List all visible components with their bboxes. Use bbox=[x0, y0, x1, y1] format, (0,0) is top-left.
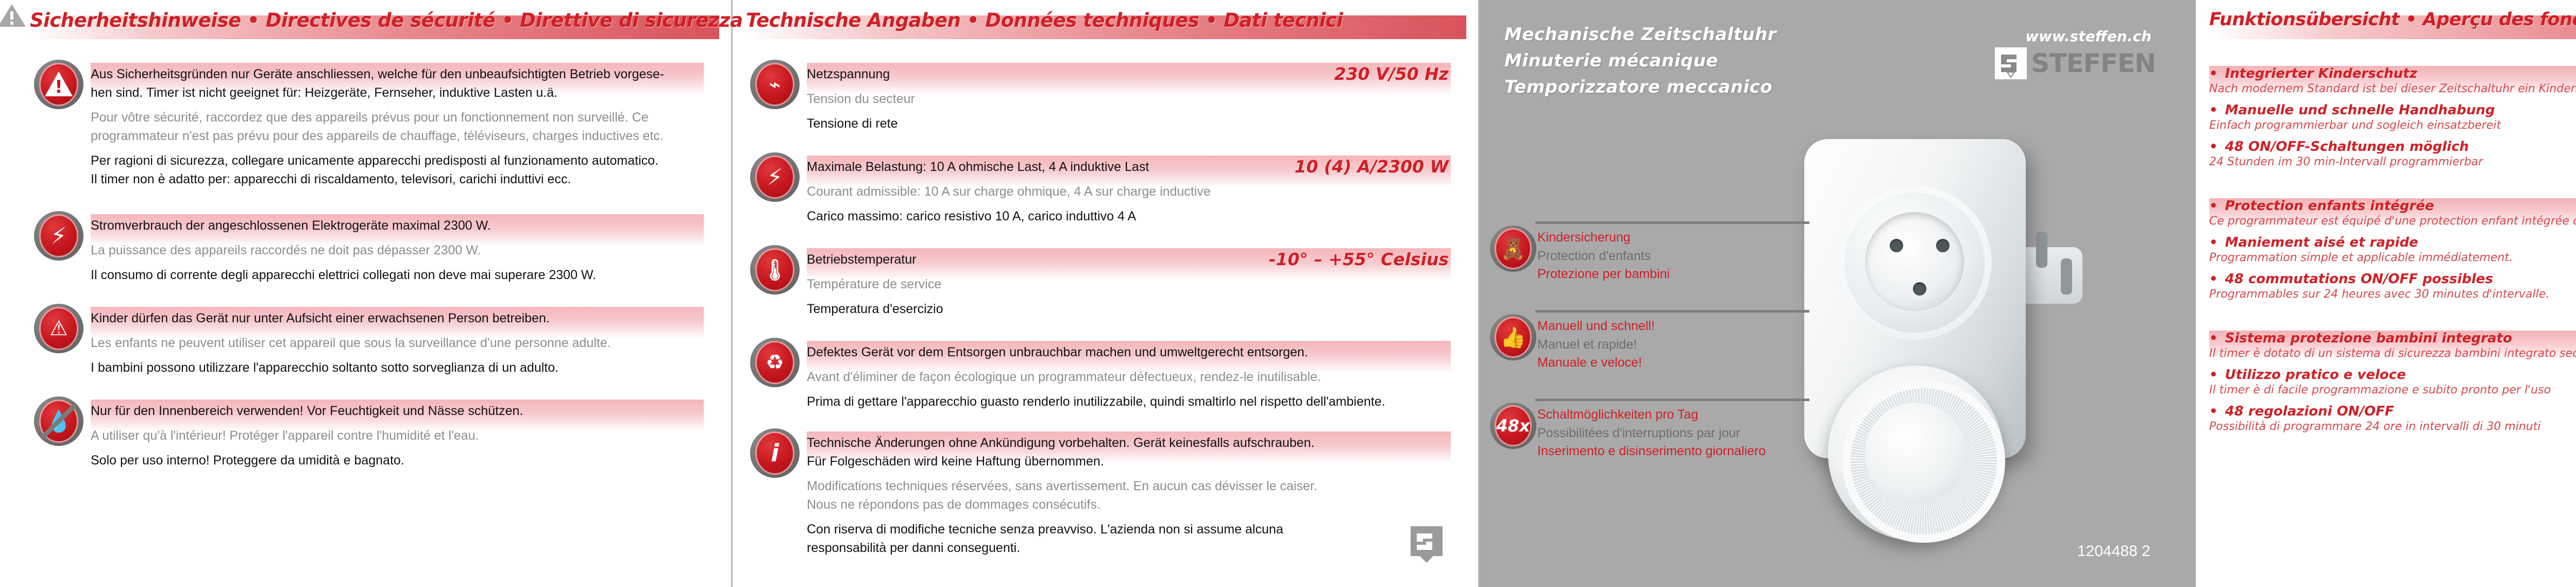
function-subtitle: Il timer è di facile programmazione e su… bbox=[2209, 384, 2576, 396]
technical-text-fr2: Nous ne répondons pas de dommages conséc… bbox=[807, 495, 1466, 514]
safety-heading-banner: Sicherheitshinweise • Directives de sécu… bbox=[30, 15, 719, 39]
safety-column: Sicherheitshinweise • Directives de sécu… bbox=[0, 0, 733, 587]
article-number: 1204488 2 bbox=[2077, 543, 2150, 560]
product-sheet: Sicherheitshinweise • Directives de sécu… bbox=[0, 0, 2576, 587]
function-title: Integrierter Kinderschutz bbox=[2209, 66, 2576, 81]
technical-item: ⌁ 230 V/50 Hz Netzspannung Tension du se… bbox=[746, 63, 1466, 133]
technical-value: -10° – +55° Celsius bbox=[1269, 249, 1449, 269]
feature-text-it: Protezione per bambini bbox=[1537, 265, 1818, 284]
function-item: Maniement aisé et rapide Programmation s… bbox=[2209, 235, 2576, 264]
feature-text-fr: Possibilitées d'interruptions par jour bbox=[1537, 424, 1818, 443]
functions-group-de: Integrierter Kinderschutz Nach modernem … bbox=[2209, 66, 2576, 168]
feature-text-de: Kindersicherung bbox=[1537, 229, 1818, 247]
plug-pin bbox=[2061, 258, 2072, 295]
functions-column: Funktionsübersicht • Aperçu des fonction… bbox=[2196, 0, 2576, 587]
function-title: Sistema protezione bambini integrato bbox=[2209, 331, 2576, 346]
function-subtitle: 24 Stunden im 30 min-Intervall programmi… bbox=[2209, 156, 2576, 168]
safety-item: 💧 Nur für den Innenbereich verwenden! Vo… bbox=[30, 400, 719, 470]
power-pylon-medal-icon: ⌁ bbox=[750, 60, 800, 109]
function-title: Maniement aisé et rapide bbox=[2209, 235, 2576, 250]
technical-value: 10 (4) A/2300 W bbox=[1295, 157, 1449, 177]
plug-pin bbox=[2036, 232, 2047, 268]
technical-text-it2: responsabilità per danni conseguenti. bbox=[807, 539, 1466, 557]
feature-divider bbox=[1535, 310, 1809, 313]
technical-column: Technische Angaben • Données techniques … bbox=[733, 0, 1480, 587]
feature-text-fr: Manuel et rapide! bbox=[1537, 336, 1818, 354]
function-title: Utilizzo pratico e veloce bbox=[2209, 367, 2576, 383]
function-subtitle: Ce programmateur est équipé d'une protec… bbox=[2209, 215, 2576, 228]
safety-item: ! Aus Sicherheitsgründen nur Geräte ansc… bbox=[30, 63, 719, 188]
website-url[interactable]: www.steffen.ch bbox=[2025, 28, 2151, 45]
safety-text-it2: Il timer non è adatto per: apparecchi di… bbox=[91, 170, 719, 188]
safety-text-fr: Pour vôtre sécurité, raccordez que des a… bbox=[91, 108, 719, 127]
technical-text-de: Defektes Gerät vor dem Entsorgen unbrauc… bbox=[807, 343, 1466, 361]
safety-text-de: Kinder dürfen das Gerät nur unter Aufsic… bbox=[91, 309, 719, 327]
function-title: 48 ON/OFF-Schaltungen möglich bbox=[2209, 139, 2576, 154]
technical-text-de2: Für Folgeschäden wird keine Haftung über… bbox=[807, 452, 1466, 471]
feature-text-fr: Protection d'enfants bbox=[1537, 247, 1818, 266]
function-title: 48 regolazioni ON/OFF bbox=[2209, 404, 2576, 419]
function-subtitle: Nach modernem Standard ist bei dieser Ze… bbox=[2209, 82, 2576, 95]
safety-item: ⚠ Kinder dürfen das Gerät nur unter Aufs… bbox=[30, 307, 719, 377]
warning-triangle-medal-icon: ! bbox=[34, 60, 83, 109]
safety-text-de: Nur für den Innenbereich verwenden! Vor … bbox=[91, 402, 719, 420]
product-title-de: Mechanische Zeitschaltuhr bbox=[1504, 22, 1776, 48]
safety-text-de2: hen sind. Timer ist nicht geeignet für: … bbox=[91, 83, 719, 102]
no-water-medal-icon: 💧 bbox=[34, 396, 83, 446]
function-item: Integrierter Kinderschutz Nach modernem … bbox=[2209, 66, 2576, 95]
lightning-bolt-medal-icon: ⚡ bbox=[34, 211, 83, 261]
product-column: Mechanische Zeitschaltuhr Minuterie méca… bbox=[1480, 0, 2196, 587]
technical-heading-text: Technische Angaben • Données techniques … bbox=[746, 9, 1343, 31]
function-item: Manuelle und schnelle Handhabung Einfach… bbox=[2209, 102, 2576, 132]
technical-text-it: Tensione di rete bbox=[807, 114, 1466, 133]
thumbs-up-medal-icon: 👍 bbox=[1490, 314, 1536, 360]
safety-text-it: Il consumo di corrente degli apparecchi … bbox=[91, 266, 719, 284]
brand-name: STEFFEN bbox=[2031, 50, 2156, 76]
function-subtitle: Possibilità di programmare 24 ore in int… bbox=[2209, 420, 2576, 433]
technical-value: 230 V/50 Hz bbox=[1334, 64, 1449, 84]
safety-text-de: Stromverbrauch der angeschlossenen Elekt… bbox=[91, 216, 719, 235]
technical-item: ⚡ 10 (4) A/2300 W Maximale Belastung: 10… bbox=[746, 156, 1466, 226]
function-title: Protection enfants intégrée bbox=[2209, 198, 2576, 214]
function-subtitle: Il timer è dotato di un sistema di sicur… bbox=[2209, 347, 2576, 360]
technical-text-it: Temperatura d'esercizio bbox=[807, 300, 1466, 318]
function-title: Manuelle und schnelle Handhabung bbox=[2209, 102, 2576, 118]
timer-dial-face bbox=[1865, 403, 1966, 504]
function-subtitle: Einfach programmierbar und sogleich eins… bbox=[2209, 119, 2576, 132]
safety-text-fr: Les enfants ne peuvent utiliser cet appa… bbox=[91, 334, 719, 352]
socket-hole bbox=[1936, 239, 1950, 252]
safety-text-fr: A utiliser qu'à l'intérieur! Protéger l'… bbox=[91, 426, 719, 445]
thermometer-medal-icon: 🌡 bbox=[750, 245, 800, 295]
safety-text-fr: La puissance des appareils raccordés ne … bbox=[91, 241, 719, 260]
safety-text-it: I bambini possono utilizzare l'apparecch… bbox=[91, 358, 719, 377]
technical-text-fr: Température de service bbox=[807, 275, 1466, 293]
technical-text-it: Prima di gettare l'apparecchio guasto re… bbox=[807, 392, 1466, 411]
function-subtitle: Programmation simple et applicable imméd… bbox=[2209, 251, 2576, 264]
product-titles: Mechanische Zeitschaltuhr Minuterie méca… bbox=[1504, 22, 1776, 100]
product-feature: 🧸 Kindersicherung Protection d'enfants P… bbox=[1488, 221, 1818, 284]
technical-item: i Technische Änderungen ohne Ankündigung… bbox=[746, 431, 1466, 557]
safety-heading-text: Sicherheitshinweise • Directives de sécu… bbox=[30, 9, 743, 31]
product-feature: 👍 Manuell und schnell! Manuel et rapide!… bbox=[1488, 310, 1818, 372]
information-medal-icon: i bbox=[750, 428, 800, 478]
socket-hole bbox=[1913, 282, 1926, 296]
feature-divider bbox=[1535, 399, 1809, 401]
functions-heading-text: Funktionsübersicht • Aperçu des fonction… bbox=[2209, 9, 2576, 30]
feature-text-de: Schaltmöglichkeiten pro Tag bbox=[1537, 406, 1818, 424]
functions-heading-banner: Funktionsübersicht • Aperçu des fonction… bbox=[2209, 15, 2576, 39]
technical-text-it: Carico massimo: carico resistivo 10 A, c… bbox=[807, 207, 1466, 226]
function-item: Sistema protezione bambini integrato Il … bbox=[2209, 331, 2576, 360]
product-feature: 48x Schaltmöglichkeiten pro Tag Possibil… bbox=[1488, 399, 1818, 461]
technical-item: 🌡 -10° – +55° Celsius Betriebstemperatur… bbox=[746, 248, 1466, 318]
function-item: Protection enfants intégrée Ce programma… bbox=[2209, 198, 2576, 228]
lightning-bolt-medal-icon: ⚡ bbox=[750, 152, 800, 202]
technical-item: ♻ Defektes Gerät vor dem Entsorgen unbra… bbox=[746, 341, 1466, 411]
technical-heading-banner: Technische Angaben • Données techniques … bbox=[746, 15, 1466, 39]
feature-text-it: Manuale e veloce! bbox=[1537, 354, 1818, 372]
teddy-bear-medal-icon: 🧸 bbox=[1490, 226, 1536, 272]
product-title-fr: Minuterie mécanique bbox=[1504, 48, 1776, 74]
safety-text-it: Per ragioni di sicurezza, collegare unic… bbox=[91, 151, 719, 170]
recycling-medal-icon: ♻ bbox=[750, 338, 800, 387]
technical-text-de: Technische Änderungen ohne Ankündigung v… bbox=[807, 434, 1466, 452]
socket-hole bbox=[1890, 239, 1903, 252]
function-item: Utilizzo pratico e veloce Il timer è di … bbox=[2209, 367, 2576, 396]
technical-text-fr: Modifications techniques réservées, sans… bbox=[807, 477, 1466, 495]
technical-text-fr: Tension du secteur bbox=[807, 90, 1466, 108]
functions-group-fr: Protection enfants intégrée Ce programma… bbox=[2209, 198, 2576, 301]
feature-divider bbox=[1535, 221, 1809, 224]
functions-group-it: Sistema protezione bambini integrato Il … bbox=[2209, 331, 2576, 433]
feature-text-it: Inserimento e disinserimento giornaliero bbox=[1537, 442, 1818, 461]
function-item: 48 ON/OFF-Schaltungen möglich 24 Stunden… bbox=[2209, 139, 2576, 168]
technical-text-it: Con riserva di modifiche tecniche senza … bbox=[807, 520, 1466, 539]
safety-text-fr2: programmateur n'est pas prévu pour des a… bbox=[91, 127, 719, 145]
48x-medal-icon: 48x bbox=[1490, 403, 1536, 449]
product-title-it: Temporizzatore meccanico bbox=[1504, 74, 1776, 100]
warning-triangle-icon bbox=[0, 2, 27, 29]
function-title: 48 commutations ON/OFF possibles bbox=[2209, 271, 2576, 287]
feature-text-de: Manuell und schnell! bbox=[1537, 317, 1818, 336]
function-subtitle: Programmables sur 24 heures avec 30 minu… bbox=[2209, 288, 2576, 301]
plug-socket-recess bbox=[1865, 212, 1964, 311]
safety-text-it: Solo per uso interno! Proteggere da umid… bbox=[91, 451, 719, 470]
function-item: 48 commutations ON/OFF possibles Program… bbox=[2209, 271, 2576, 301]
technical-text-fr: Avant d'éliminer de façon écologique un … bbox=[807, 368, 1466, 386]
slash-overlay-icon bbox=[34, 396, 83, 446]
safety-text-de: Aus Sicherheitsgründen nur Geräte anschl… bbox=[91, 65, 719, 83]
safety-item: ⚡ Stromverbrauch der angeschlossenen Ele… bbox=[30, 214, 719, 284]
steffen-brand-logo: STEFFEN bbox=[1995, 47, 2156, 79]
steffen-s-logo-icon bbox=[1995, 47, 2027, 79]
child-supervision-medal-icon: ⚠ bbox=[34, 304, 83, 353]
function-item: 48 regolazioni ON/OFF Possibilità di pro… bbox=[2209, 404, 2576, 433]
technical-text-fr: Courant admissible: 10 A sur charge ohmi… bbox=[807, 182, 1466, 201]
